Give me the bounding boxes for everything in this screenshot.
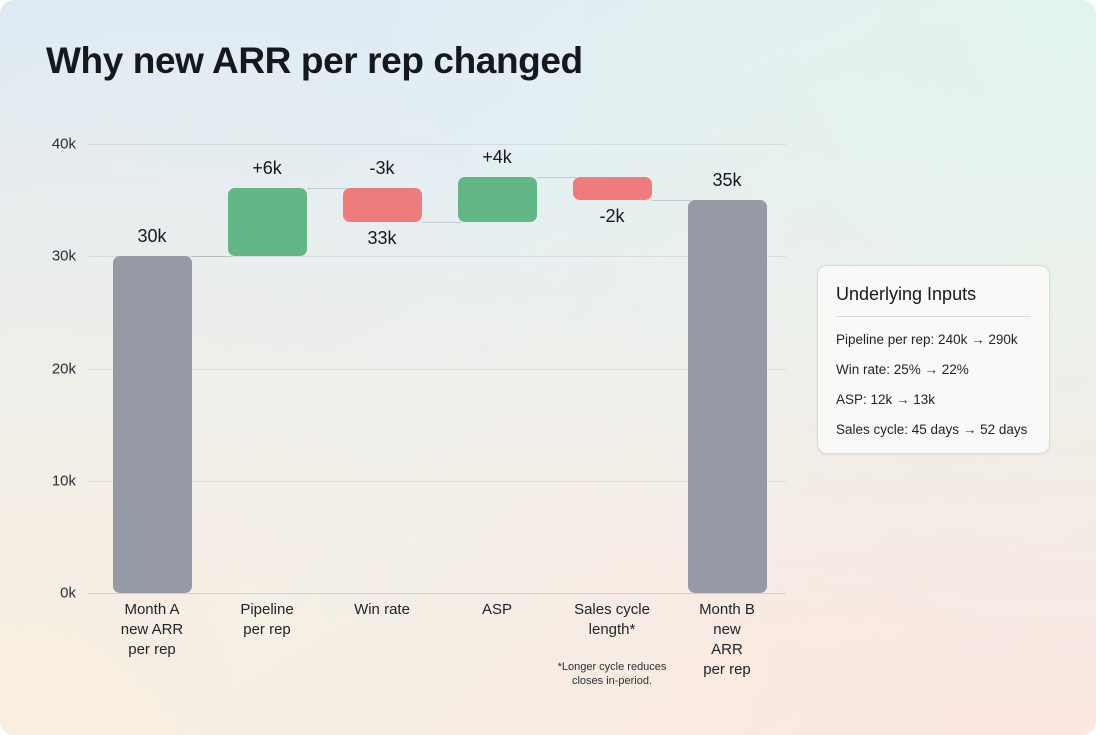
- plot-area: 40k 30k 20k 10k 0k 30k +6k -3k 33k +4k -…: [88, 144, 786, 594]
- bar-sales-cycle-length[interactable]: [573, 177, 652, 200]
- gridline-20k: [88, 369, 786, 370]
- x-label-asp: ASP: [482, 600, 512, 620]
- underlying-input-win-rate: Win rate: 25% → 22%: [836, 362, 1031, 377]
- x-label-win-rate: Win rate: [354, 600, 410, 620]
- y-tick-0k: 0k: [60, 585, 76, 602]
- x-label-sales-cycle: Sales cycle length*: [574, 600, 650, 640]
- bar-win-rate[interactable]: [343, 188, 422, 222]
- underlying-input-sales-cycle: Sales cycle: 45 days → 52 days: [836, 422, 1031, 437]
- x-label-footnote: *Longer cycle reduces closes in-period.: [558, 660, 667, 688]
- connector-5: [652, 200, 691, 201]
- bar-label-month-b: 35k: [712, 170, 741, 191]
- connector-3: [422, 222, 461, 223]
- y-tick-10k: 10k: [52, 473, 76, 490]
- bar-month-b-new-arr[interactable]: [688, 200, 767, 593]
- underlying-inputs-panel: Underlying Inputs Pipeline per rep: 240k…: [817, 265, 1050, 454]
- bar-asp[interactable]: [458, 177, 537, 222]
- gridline-0k: [88, 593, 786, 594]
- chart-canvas: Why new ARR per rep changed 40k 30k 20k …: [0, 0, 1096, 735]
- x-label-month-a: Month A new ARR per rep: [121, 600, 184, 660]
- page-title: Why new ARR per rep changed: [46, 40, 583, 82]
- x-label-month-b: Month B new ARR per rep: [698, 600, 757, 680]
- y-tick-30k: 30k: [52, 248, 76, 265]
- underlying-inputs-title: Underlying Inputs: [836, 284, 1031, 317]
- bar-label-month-a: 30k: [137, 226, 166, 247]
- bar-label-sales-cycle: -2k: [599, 206, 624, 227]
- x-label-pipeline: Pipeline per rep: [240, 600, 293, 640]
- underlying-input-asp: ASP: 12k → 13k: [836, 392, 1031, 407]
- bar-label-asp: +4k: [482, 147, 512, 168]
- gridline-40k: [88, 144, 786, 145]
- gridline-10k: [88, 481, 786, 482]
- connector-2: [307, 188, 346, 189]
- connector-4: [537, 177, 576, 178]
- bar-label-win-rate: -3k: [369, 158, 394, 179]
- y-tick-20k: 20k: [52, 361, 76, 378]
- bar-month-a-new-arr[interactable]: [113, 256, 192, 593]
- bar-label-win-rate-total: 33k: [367, 228, 396, 249]
- bar-label-pipeline: +6k: [252, 158, 282, 179]
- bar-pipeline-per-rep[interactable]: [228, 188, 307, 256]
- y-tick-40k: 40k: [52, 136, 76, 153]
- connector-1: [192, 256, 231, 257]
- underlying-input-pipeline: Pipeline per rep: 240k → 290k: [836, 332, 1031, 347]
